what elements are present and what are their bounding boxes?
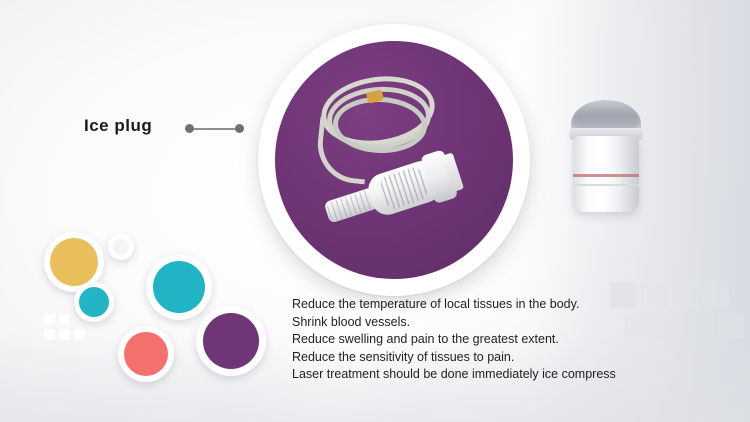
callout-label: Ice plug: [84, 116, 152, 136]
coral-circle: [118, 326, 174, 382]
slide-canvas: Ice plug: [0, 0, 750, 422]
coral-circle-fill: [124, 332, 168, 376]
connector-dot-left: [185, 124, 194, 133]
small-teal-circle-fill: [79, 287, 109, 317]
teal-circle-fill: [153, 261, 205, 313]
callout-connector: [185, 124, 245, 134]
product-red-stripe: [573, 174, 639, 177]
connector-line: [189, 128, 241, 130]
ice-plug-product-photo: [565, 100, 647, 216]
teal-circle: [146, 254, 212, 320]
small-white-circle-fill: [113, 239, 129, 255]
connector-dot-right: [235, 124, 244, 133]
small-teal-circle: [74, 282, 114, 322]
yellow-circle-fill: [50, 238, 98, 286]
main-circle-purple-fill: [275, 41, 513, 279]
description-text-block: Reduce the temperature of local tissues …: [292, 296, 712, 384]
small-white-circle: [108, 234, 134, 260]
main-product-circle: [258, 24, 530, 296]
bullet-line-1: Reduce the temperature of local tissues …: [292, 296, 712, 314]
bullet-line-3: Reduce swelling and pain to the greatest…: [292, 331, 712, 349]
purple-circle: [196, 306, 266, 376]
product-gray-stripe: [573, 184, 639, 186]
purple-circle-fill: [203, 313, 259, 369]
bullet-line-5: Laser treatment should be done immediate…: [292, 366, 712, 384]
bullet-line-2: Shrink blood vessels.: [292, 314, 712, 332]
bullet-line-4: Reduce the sensitivity of tissues to pai…: [292, 349, 712, 367]
mini-grid-decoration: [44, 314, 88, 348]
